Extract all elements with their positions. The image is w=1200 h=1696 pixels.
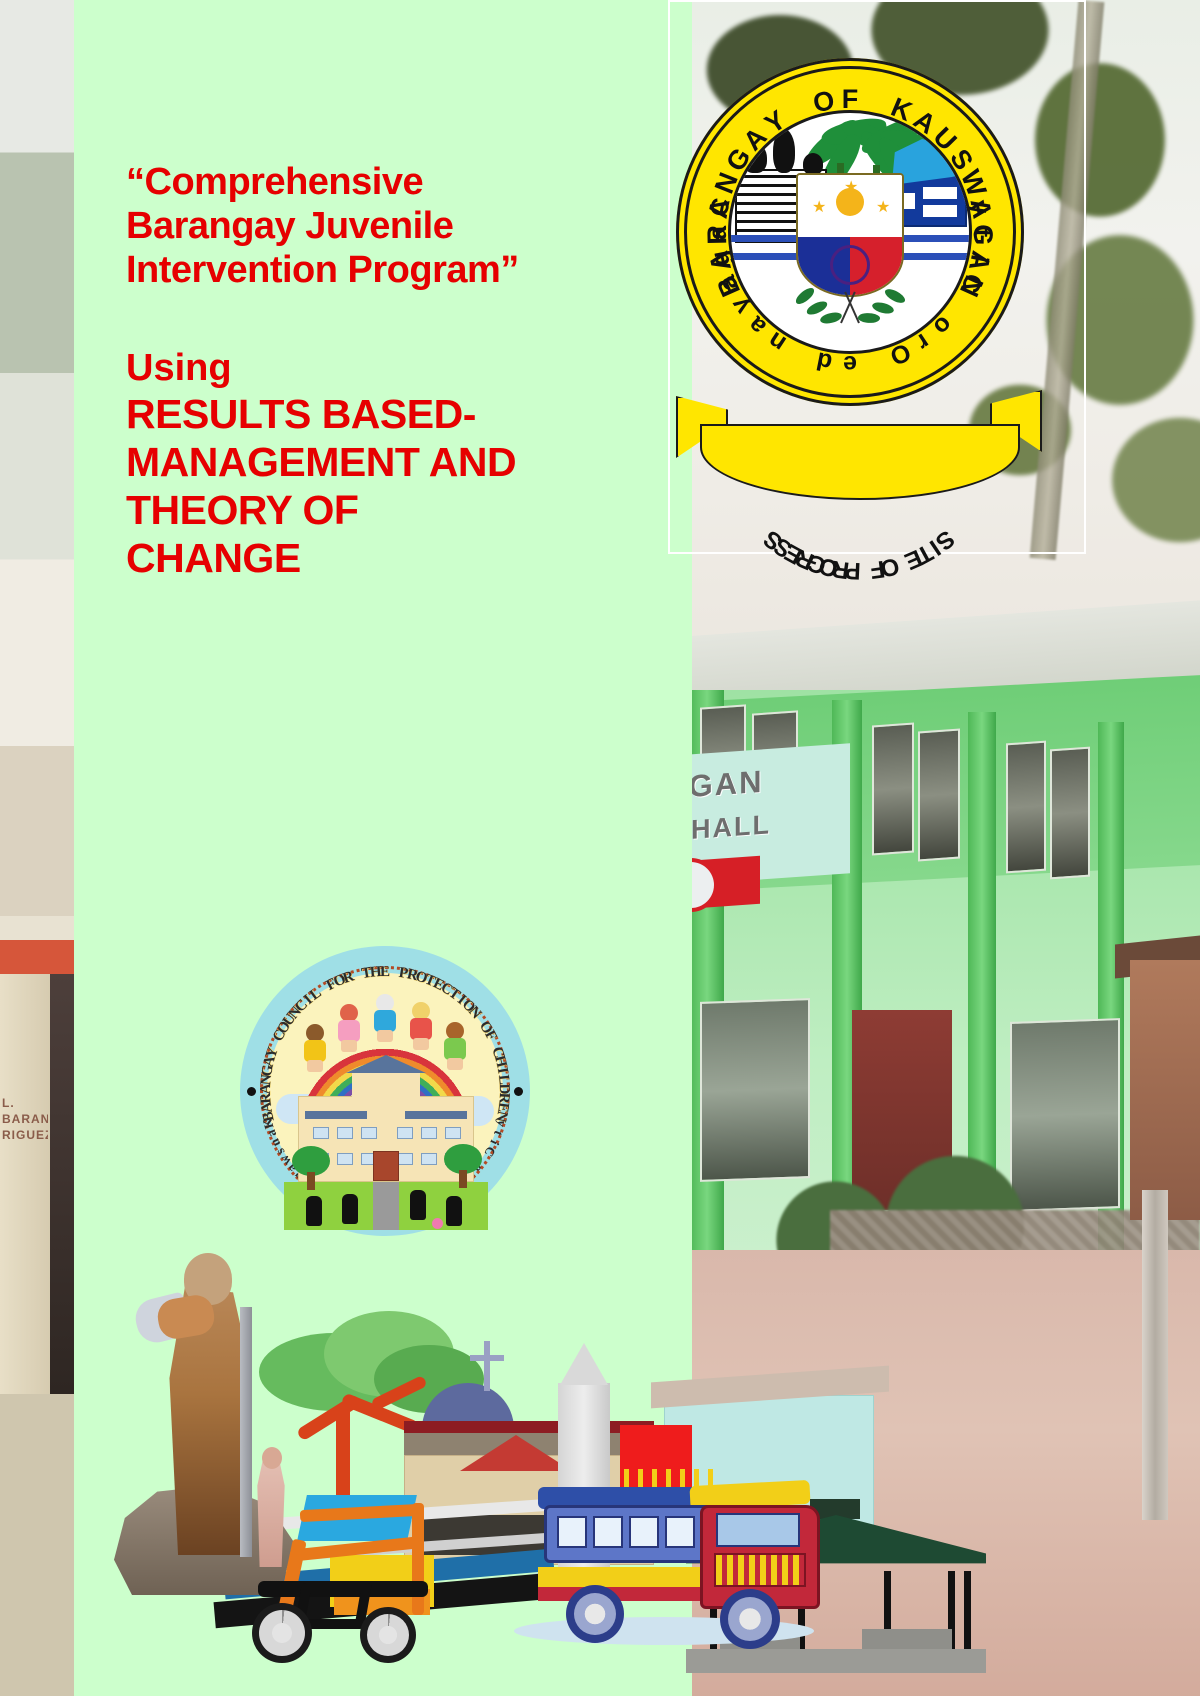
methodology-subtitle: RESULTS BASED- MANAGEMENT AND THEORY OF … <box>126 390 646 582</box>
poster-page: SWAGAN GAY HALL L.BARANGAYRIGUEZ “Compre… <box>0 0 1200 1696</box>
seal-emblem: ★ ★ ★ <box>728 110 972 354</box>
ribbon-text: SITE OF PROGRESS <box>674 340 1044 528</box>
program-title-line-2: Barangay Juvenile <box>126 204 646 248</box>
tricycle-wheel <box>360 1607 416 1663</box>
neighbor-shed <box>1130 960 1200 1220</box>
building-window <box>918 729 960 862</box>
cross-icon <box>484 1341 490 1391</box>
tree-icon <box>292 1146 330 1190</box>
left-photo-strip: L.BARANGAYRIGUEZ <box>0 0 74 1696</box>
concrete-post <box>1142 1190 1168 1520</box>
smoke-plume-icon <box>743 143 767 173</box>
building-window <box>1050 747 1090 880</box>
jeepney-wheel <box>566 1585 624 1643</box>
jeepney-roof-rack <box>624 1469 718 1487</box>
left-house-roof <box>0 940 74 974</box>
left-house-wall <box>0 974 50 1394</box>
cross-icon <box>470 1355 504 1361</box>
smoke-plume-icon <box>773 129 795 173</box>
smoke-plume-icon <box>803 153 823 175</box>
bcpc-seal: BARANGAY COUNCIL FOR THE PROTECTION OF C… <box>240 946 530 1236</box>
program-title-line-1: “Comprehensive <box>126 160 646 204</box>
tricycle-icon <box>252 1485 472 1665</box>
child-figure <box>372 994 398 1040</box>
jeepney-icon <box>504 1461 834 1661</box>
jeepney-grille <box>714 1553 806 1587</box>
program-title: “Comprehensive Barangay Juvenile Interve… <box>126 160 646 292</box>
left-house-signage: L.BARANGAYRIGUEZ <box>2 1095 48 1165</box>
child-figure <box>302 1024 328 1070</box>
clipart-band <box>74 1215 864 1696</box>
subtitle-using: Using <box>126 346 646 390</box>
building-window <box>872 723 914 856</box>
child-figure <box>408 1002 434 1048</box>
child-figure <box>442 1022 468 1068</box>
tricycle-wheel <box>252 1603 312 1663</box>
left-house-shadow <box>50 974 74 1394</box>
child-figure <box>336 1004 362 1050</box>
methodology-line-3: THEORY OF <box>126 486 646 534</box>
tree-icon <box>444 1144 482 1188</box>
jeepney-wheel <box>720 1589 780 1649</box>
methodology-line-1: RESULTS BASED- <box>126 390 646 438</box>
methodology-line-4: CHANGE <box>126 534 646 582</box>
building-window <box>1006 741 1046 874</box>
program-title-line-3: Intervention Program” <box>126 248 646 292</box>
ground-floor-window <box>700 998 810 1182</box>
title-block: “Comprehensive Barangay Juvenile Interve… <box>126 160 646 582</box>
crossed-laurel-icon <box>792 289 908 333</box>
circle-overlay <box>830 245 870 285</box>
methodology-line-2: MANAGEMENT AND <box>126 438 646 486</box>
philippine-flag-shield-icon: ★ ★ ★ <box>796 173 904 297</box>
seal-ribbon: SITE OF PROGRESS <box>674 368 1044 528</box>
